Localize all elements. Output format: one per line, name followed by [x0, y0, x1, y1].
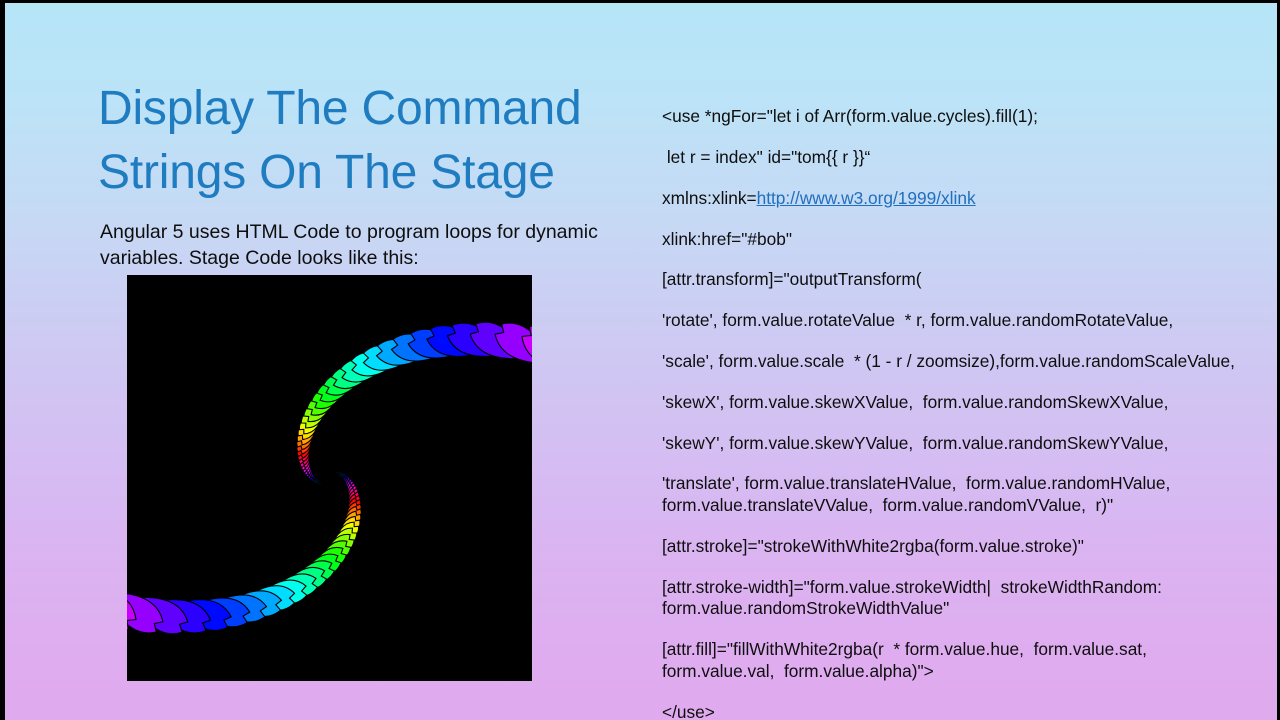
line-scale: 'scale', form.value.scale * (1 - r / zoo…	[662, 351, 1254, 373]
line-attr-transform: [attr.transform]="outputTransform(	[662, 269, 1254, 291]
line-skewx: 'skewX', form.value.skewXValue, form.val…	[662, 392, 1254, 414]
slide-title: Display The Command Strings On The Stage	[98, 77, 658, 204]
code-listing: <use *ngFor="let i of Arr(form.value.cyc…	[662, 89, 1254, 720]
line-attr-stroke: [attr.stroke]="strokeWithWhite2rgba(form…	[662, 536, 1254, 558]
line-xmlns-xlink-prefix: xmlns:xlink=	[662, 188, 757, 208]
line-xmlns-xlink: xmlns:xlink=http://www.w3.org/1999/xlink	[662, 188, 1254, 210]
line-skewy: 'skewY', form.value.skewYValue, form.val…	[662, 433, 1254, 455]
line-close-use: </use>	[662, 702, 1254, 720]
slide-subtitle: Angular 5 uses HTML Code to program loop…	[100, 219, 600, 272]
line-attr-stroke-width: [attr.stroke-width]="form.value.strokeWi…	[662, 577, 1254, 621]
line-translate: 'translate', form.value.translateHValue,…	[662, 473, 1254, 517]
xlink-namespace-link[interactable]: http://www.w3.org/1999/xlink	[757, 188, 976, 208]
line-rotate: 'rotate', form.value.rotateValue * r, fo…	[662, 310, 1254, 332]
line-xlink-href: xlink:href="#bob"	[662, 229, 1254, 251]
presentation-slide: Display The Command Strings On The Stage…	[0, 0, 1280, 720]
line-attr-fill: [attr.fill]="fillWithWhite2rgba(r * form…	[662, 639, 1254, 683]
line-let-r-index: let r = index" id="tom{{ r }}“	[662, 147, 1254, 169]
line-use-ngfor: <use *ngFor="let i of Arr(form.value.cyc…	[662, 106, 1254, 128]
spiral-svg	[127, 275, 532, 681]
stage-spiral-image	[127, 275, 532, 681]
